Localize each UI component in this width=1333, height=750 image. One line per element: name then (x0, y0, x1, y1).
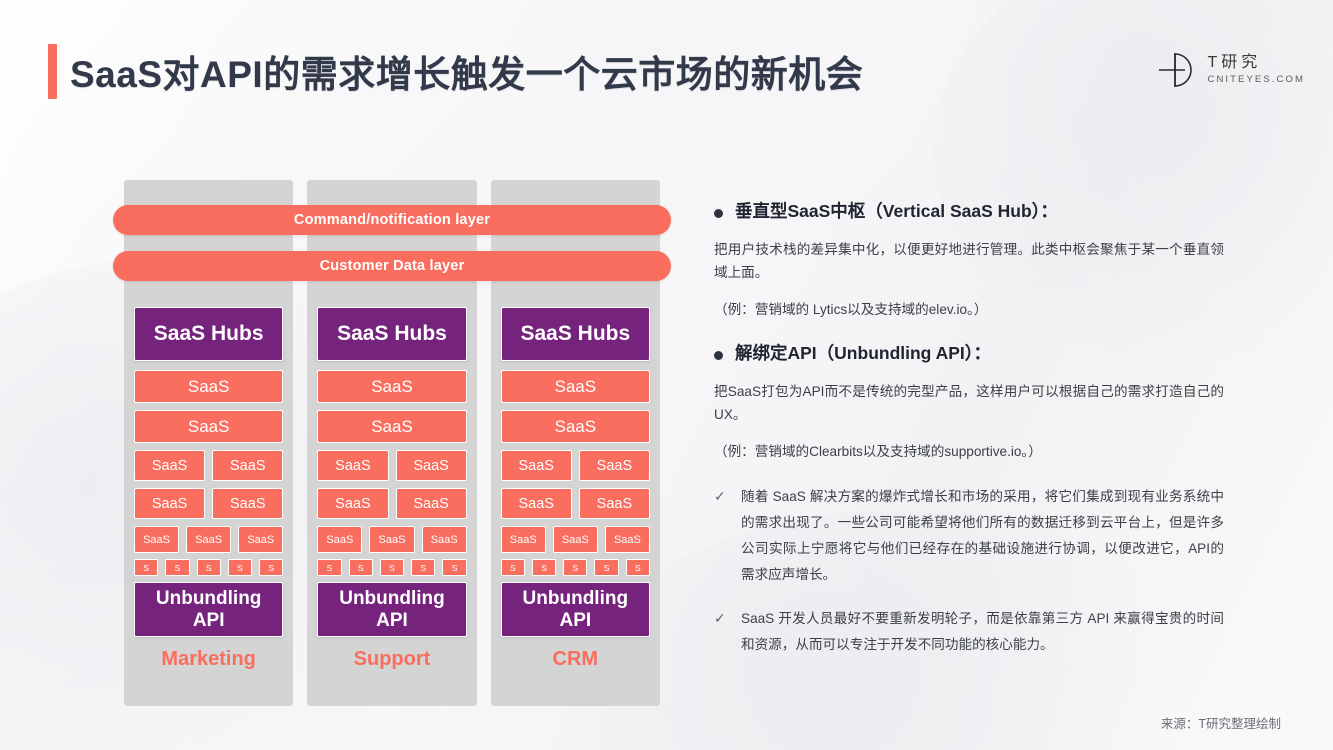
api-box-line1: Unbundling (156, 588, 262, 609)
saas-block-tiny: S (563, 559, 587, 576)
section-heading-vertical-saas-hub: 垂直型SaaS中枢（Vertical SaaS Hub）： (714, 200, 1224, 224)
saas-hubs-box: SaaS Hubs (317, 307, 466, 361)
saas-block-half: SaaS (212, 450, 283, 481)
saas-block-half: SaaS (134, 488, 205, 519)
saas-block-wide: SaaS (317, 370, 466, 403)
saas-block-half: SaaS (501, 488, 572, 519)
saas-block-half: SaaS (134, 450, 205, 481)
page-title: SaaS对API的需求增长触发一个云市场的新机会 (70, 44, 863, 98)
checkmark-icon: ✓ (714, 610, 728, 627)
checkmark-icon: ✓ (714, 488, 728, 505)
saas-row-pair: SaaS SaaS (501, 488, 650, 519)
check-item: ✓ 随着 SaaS 解决方案的爆炸式增长和市场的采用，将它们集成到现有业务系统中… (714, 484, 1224, 588)
brand-logo-text: T研究 CNITEYES.COM (1207, 54, 1305, 86)
api-box-line1: Unbundling (339, 588, 445, 609)
saas-block-half: SaaS (212, 488, 283, 519)
saas-row-pair: SaaS SaaS (317, 488, 466, 519)
saas-block-third: SaaS (422, 526, 467, 553)
saas-block-wide: SaaS (134, 410, 283, 443)
saas-stack-diagram: SaaS Hubs SaaS SaaS SaaS SaaS SaaS SaaS … (124, 180, 660, 706)
saas-block-third: SaaS (238, 526, 283, 553)
section-heading-unbundling-api: 解绑定API（Unbundling API）： (714, 342, 1224, 366)
slide-header: SaaS对API的需求增长触发一个云市场的新机会 T研究 CNITEYES.CO… (0, 0, 1333, 130)
saas-row-quintuple: S S S S S (501, 559, 650, 576)
saas-block-tiny: S (165, 559, 189, 576)
saas-block-tiny: S (501, 559, 525, 576)
saas-block-wide: SaaS (317, 410, 466, 443)
saas-row-quintuple: S S S S S (317, 559, 466, 576)
saas-block-third: SaaS (501, 526, 546, 553)
saas-hubs-box: SaaS Hubs (501, 307, 650, 361)
unbundling-api-box: Unbundling API (134, 582, 283, 637)
saas-block-tiny: S (349, 559, 373, 576)
saas-block-tiny: S (532, 559, 556, 576)
saas-block-tiny: S (380, 559, 404, 576)
saas-block-wide: SaaS (501, 370, 650, 403)
unbundling-api-box: Unbundling API (317, 582, 466, 637)
brand-name-cn: T研究 (1207, 54, 1305, 72)
saas-block-third: SaaS (369, 526, 414, 553)
brand-url: CNITEYES.COM (1207, 73, 1305, 86)
saas-block-half: SaaS (317, 488, 388, 519)
saas-block-tiny: S (259, 559, 283, 576)
saas-block-third: SaaS (317, 526, 362, 553)
saas-block-third: SaaS (134, 526, 179, 553)
section-body-text: 把用户技术栈的差异集中化，以便更好地进行管理。此类中枢会聚焦于某一个垂直领域上面… (714, 238, 1224, 286)
saas-block-half: SaaS (396, 488, 467, 519)
column-label-crm: CRM (501, 637, 650, 681)
api-box-line2: API (376, 610, 408, 631)
saas-row-pair: SaaS SaaS (134, 488, 283, 519)
saas-block-tiny: S (134, 559, 158, 576)
saas-block-wide: SaaS (501, 410, 650, 443)
bullet-dot-icon (714, 351, 723, 360)
saas-block-third: SaaS (605, 526, 650, 553)
saas-hubs-box: SaaS Hubs (134, 307, 283, 361)
saas-row-triple: SaaS SaaS SaaS (134, 526, 283, 553)
half-circle-crosshair-icon (1153, 48, 1197, 92)
section-heading-text: 垂直型SaaS中枢（Vertical SaaS Hub）： (735, 200, 1058, 224)
column-label-support: Support (317, 637, 466, 681)
saas-block-tiny: S (228, 559, 252, 576)
saas-block-third: SaaS (186, 526, 231, 553)
saas-block-tiny: S (594, 559, 618, 576)
saas-block-third: SaaS (553, 526, 598, 553)
saas-row-quintuple: S S S S S (134, 559, 283, 576)
saas-block-tiny: S (197, 559, 221, 576)
section-example-text: （例：营销域的 Lytics以及支持域的elev.io。） (714, 298, 1224, 322)
source-note: 来源：T研究整理绘制 (1161, 713, 1281, 732)
saas-block-tiny: S (442, 559, 466, 576)
section-example-text: （例：营销域的Clearbits以及支持域的supportive.io。） (714, 440, 1224, 464)
brand-logo: T研究 CNITEYES.COM (1153, 48, 1305, 92)
saas-row-triple: SaaS SaaS SaaS (501, 526, 650, 553)
unbundling-api-box: Unbundling API (501, 582, 650, 637)
saas-row-pair: SaaS SaaS (317, 450, 466, 481)
api-box-line2: API (559, 610, 591, 631)
title-accent-bar (48, 44, 57, 99)
bullet-dot-icon (714, 209, 723, 218)
saas-block-half: SaaS (317, 450, 388, 481)
saas-block-half: SaaS (396, 450, 467, 481)
saas-row-triple: SaaS SaaS SaaS (317, 526, 466, 553)
customer-data-layer: Customer Data layer (113, 251, 671, 281)
saas-block-half: SaaS (501, 450, 572, 481)
saas-block-tiny: S (317, 559, 341, 576)
section-body-text: 把SaaS打包为API而不是传统的完型产品，这样用户可以根据自己的需求打造自己的… (714, 380, 1224, 428)
command-notification-layer: Command/notification layer (113, 205, 671, 235)
saas-block-wide: SaaS (134, 370, 283, 403)
check-item-text: 随着 SaaS 解决方案的爆炸式增长和市场的采用，将它们集成到现有业务系统中的需… (741, 484, 1224, 588)
saas-block-tiny: S (626, 559, 650, 576)
check-item: ✓ SaaS 开发人员最好不要重新发明轮子，而是依靠第三方 API 来赢得宝贵的… (714, 606, 1224, 658)
api-box-line1: Unbundling (523, 588, 629, 609)
saas-block-half: SaaS (579, 488, 650, 519)
api-box-line2: API (193, 610, 225, 631)
column-label-marketing: Marketing (134, 637, 283, 681)
saas-block-tiny: S (411, 559, 435, 576)
explanation-panel: 垂直型SaaS中枢（Vertical SaaS Hub）： 把用户技术栈的差异集… (714, 200, 1224, 677)
saas-block-half: SaaS (579, 450, 650, 481)
section-heading-text: 解绑定API（Unbundling API）： (735, 342, 991, 366)
saas-row-pair: SaaS SaaS (501, 450, 650, 481)
saas-row-pair: SaaS SaaS (134, 450, 283, 481)
check-item-text: SaaS 开发人员最好不要重新发明轮子，而是依靠第三方 API 来赢得宝贵的时间… (741, 606, 1224, 658)
